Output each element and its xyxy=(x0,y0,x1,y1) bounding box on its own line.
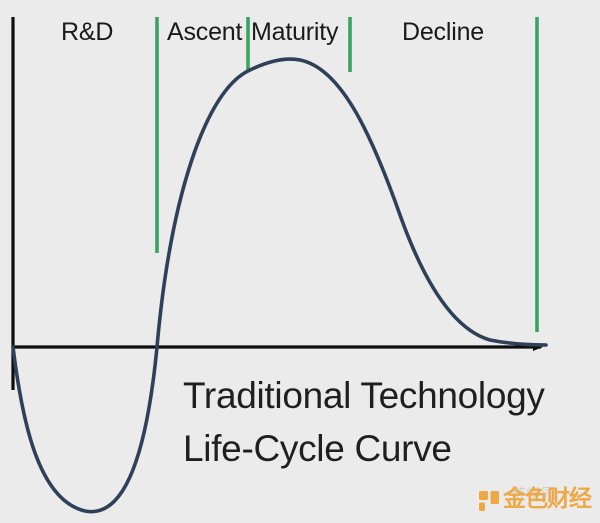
chart-title-line-1: Traditional Technology xyxy=(183,370,583,423)
chart-title-line-2: Life-Cycle Curve xyxy=(183,423,583,476)
phase-label-decline: Decline xyxy=(402,20,484,45)
chart-title: Traditional Technology Life-Cycle Curve xyxy=(183,370,583,476)
watermark-logo-icon xyxy=(478,490,500,512)
phase-label-rd: R&D xyxy=(61,20,113,45)
life-cycle-diagram: R&D Ascent Maturity Decline Traditional … xyxy=(0,0,600,523)
watermark: 链学园 金色财经 xyxy=(478,486,590,516)
watermark-text: 金色财经 xyxy=(503,487,591,512)
phase-label-ascent: Ascent xyxy=(167,20,242,45)
phase-label-maturity: Maturity xyxy=(251,20,338,45)
